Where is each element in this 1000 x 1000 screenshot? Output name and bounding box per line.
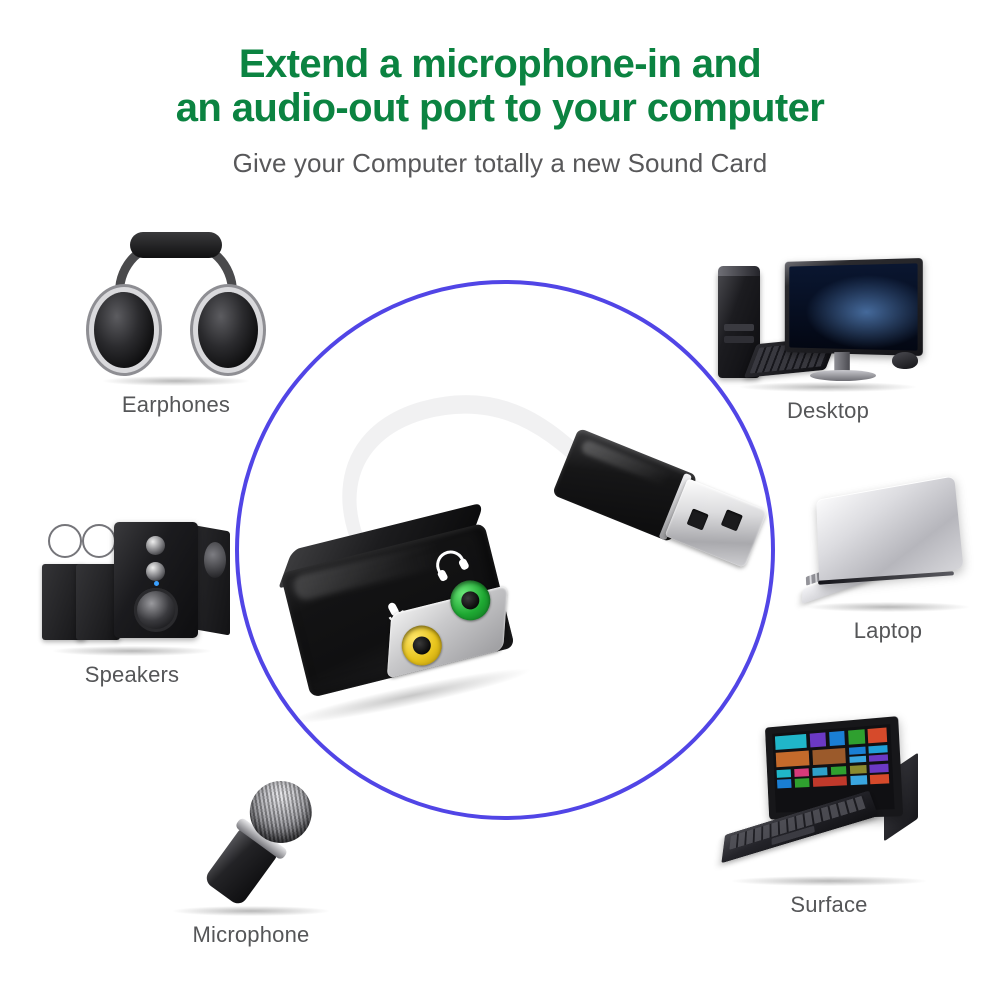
start-tile (809, 733, 826, 748)
device-label: Earphones (80, 392, 272, 418)
jack-hole (459, 589, 481, 611)
drop-shadow (53, 646, 211, 656)
start-tile (870, 774, 889, 783)
device-surface: Surface (702, 712, 956, 918)
mouse (892, 352, 918, 369)
start-tile (869, 745, 888, 754)
usb-sound-card-product (245, 370, 745, 790)
device-desktop: Desktop (712, 252, 944, 424)
headphone-top-pad (130, 232, 222, 258)
power-led (154, 581, 159, 586)
headline-line-2: an audio-out port to your computer (0, 86, 1000, 130)
start-tile (812, 748, 846, 766)
pc-drive-bay (724, 324, 754, 331)
volume-knob[interactable] (146, 536, 165, 555)
device-label: Surface (702, 892, 956, 918)
start-tile (850, 755, 866, 763)
start-tile (831, 766, 847, 775)
side-port (204, 542, 226, 578)
start-tile (794, 778, 809, 787)
device-label: Desktop (712, 398, 944, 424)
pc-tower-top (718, 266, 760, 276)
monitor-base (810, 370, 876, 381)
laptop-icon (782, 472, 994, 614)
start-tile (775, 750, 809, 767)
satellite-driver-ring (48, 524, 82, 558)
drop-shadow (732, 876, 925, 886)
jack-hole (411, 635, 433, 657)
device-microphone: Microphone (148, 762, 354, 948)
device-laptop: Laptop (782, 472, 994, 644)
speakers-icon (28, 508, 236, 658)
start-tile (869, 754, 888, 762)
start-tile (870, 763, 889, 772)
device-earphones: Earphones (80, 232, 272, 418)
usb-cutout (687, 508, 709, 530)
device-label: Speakers (28, 662, 236, 688)
start-tile (776, 769, 791, 778)
start-tile (775, 734, 807, 750)
microphone-icon (148, 762, 354, 918)
monitor-screen (789, 263, 917, 350)
pc-drive-bay (724, 336, 754, 343)
windows-start-tiles (772, 724, 894, 813)
drop-shadow (173, 906, 330, 916)
device-label: Microphone (148, 922, 354, 948)
infographic-canvas: Extend a microphone-in and an audio-out … (0, 0, 1000, 1000)
woofer-driver (134, 588, 178, 632)
start-tile (794, 768, 809, 777)
start-tile (829, 731, 845, 746)
desktop-computer-icon (712, 252, 944, 394)
start-tile (813, 777, 848, 787)
page-title: Extend a microphone-in and an audio-out … (0, 42, 1000, 130)
headline-line-1: Extend a microphone-in and (239, 42, 761, 86)
headphones-icon (80, 232, 272, 388)
usb-cutout (721, 509, 743, 531)
headphone-earcup-left (94, 292, 154, 368)
device-speakers: Speakers (28, 508, 236, 688)
satellite-driver-ring (82, 524, 116, 558)
monitor (785, 258, 923, 356)
start-tile (812, 767, 828, 776)
start-tile (777, 779, 792, 788)
surface-tablet-icon (702, 712, 956, 888)
drop-shadow (740, 382, 916, 392)
laptop-lid (816, 475, 963, 585)
page-subtitle: Give your Computer totally a new Sound C… (0, 148, 1000, 179)
start-tile (849, 746, 865, 755)
drop-shadow (103, 376, 249, 386)
bass-knob[interactable] (146, 562, 165, 581)
start-tile (850, 765, 866, 774)
device-label: Laptop (782, 618, 994, 644)
microphone-graphic (166, 746, 349, 929)
drop-shadow (807, 602, 968, 612)
headphone-earcup-right (198, 292, 258, 368)
start-tile (851, 776, 867, 785)
start-tile (868, 728, 888, 744)
start-tile (848, 730, 865, 745)
